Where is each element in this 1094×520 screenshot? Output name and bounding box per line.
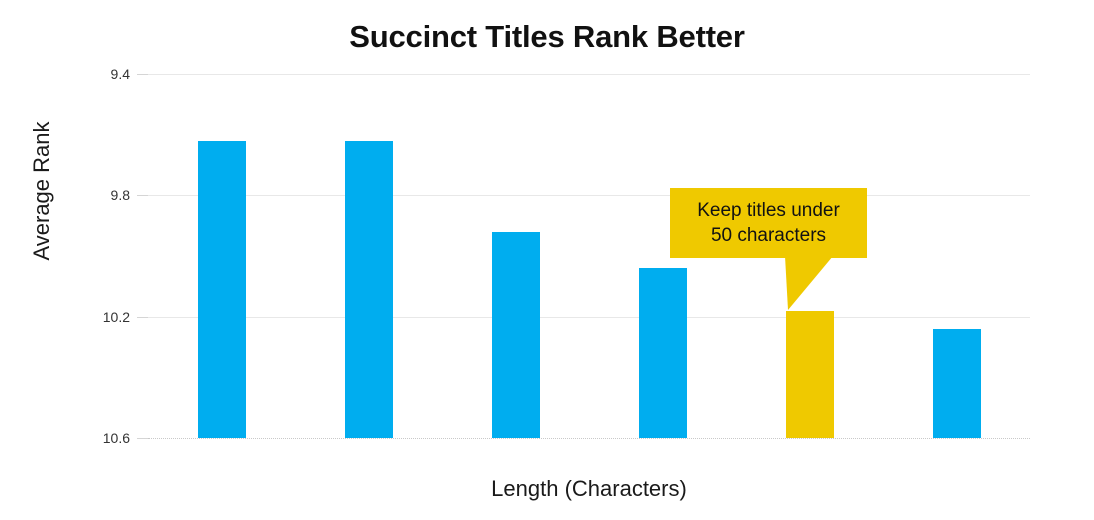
y-tick-label: 9.4	[64, 67, 130, 81]
y-tick-label: 10.6	[64, 431, 130, 445]
y-axis-title: Average Rank	[29, 111, 55, 271]
callout-tail-icon	[780, 256, 840, 312]
bar-60-69[interactable]	[933, 329, 981, 438]
plot-area: 9.49.810.210.610-1920-2930-3940-4950-596…	[148, 74, 1030, 438]
bar-40-49[interactable]	[639, 268, 687, 438]
x-axis-title: Length (Characters)	[148, 476, 1030, 502]
y-tick-mark	[137, 438, 148, 439]
y-tick-label: 10.2	[64, 310, 130, 324]
gridline	[148, 195, 1030, 196]
bar-30-39[interactable]	[492, 232, 540, 438]
chart-screenshot: Succinct Titles Rank Better Average Rank…	[0, 0, 1094, 520]
bar-20-29[interactable]	[345, 141, 393, 438]
y-tick-label: 9.8	[64, 188, 130, 202]
gridline	[148, 317, 1030, 318]
gridline	[148, 74, 1030, 75]
y-tick-mark	[137, 74, 148, 75]
callout-bubble[interactable]: Keep titles under 50 characters	[670, 188, 867, 258]
bar-50-59[interactable]	[786, 311, 834, 438]
callout-text: Keep titles under 50 characters	[697, 198, 840, 248]
bar-10-19[interactable]	[198, 141, 246, 438]
y-tick-mark	[137, 195, 148, 196]
gridline	[148, 438, 1030, 439]
y-tick-mark	[137, 317, 148, 318]
chart-title: Succinct Titles Rank Better	[0, 18, 1094, 56]
